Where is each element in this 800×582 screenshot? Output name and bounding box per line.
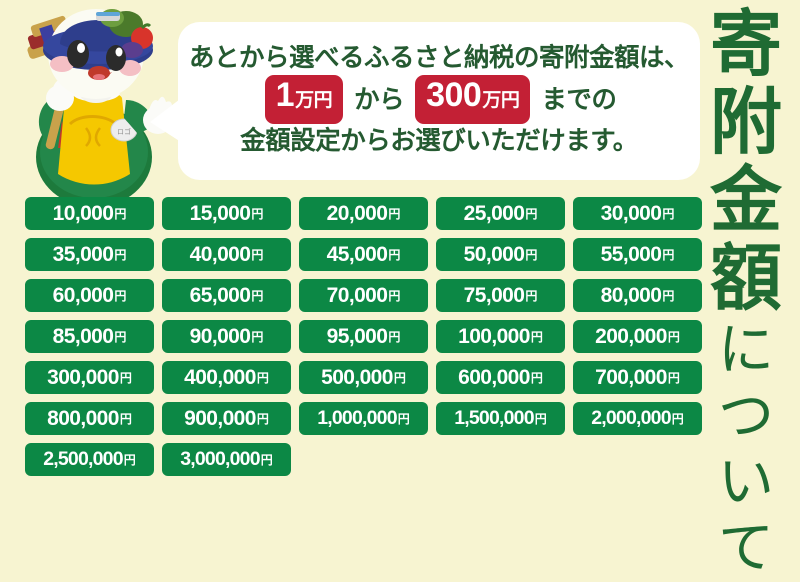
amount-currency-suffix: 円 xyxy=(531,368,543,389)
amount-value: 200,000 xyxy=(595,326,667,347)
amount-value: 400,000 xyxy=(184,367,256,388)
vtitle-char-5: つ xyxy=(718,384,774,450)
amount-value: 100,000 xyxy=(458,326,530,347)
amount-value: 15,000 xyxy=(190,203,251,224)
amount-currency-suffix: 円 xyxy=(114,204,126,225)
amount-value: 80,000 xyxy=(601,285,662,306)
amount-currency-suffix: 円 xyxy=(114,245,126,266)
amount-value: 600,000 xyxy=(458,367,530,388)
amount-button[interactable]: 1,000,000円 xyxy=(299,402,428,435)
amount-button[interactable]: 95,000円 xyxy=(299,320,428,353)
amount-currency-suffix: 円 xyxy=(662,245,674,266)
amount-currency-suffix: 円 xyxy=(394,368,406,389)
amount-value: 10,000 xyxy=(53,203,114,224)
amount-value: 75,000 xyxy=(464,285,525,306)
amount-value: 95,000 xyxy=(327,326,388,347)
amount-button[interactable]: 600,000円 xyxy=(436,361,565,394)
amount-value: 700,000 xyxy=(595,367,667,388)
svg-text:ロゴ: ロゴ xyxy=(117,127,131,136)
vtitle-char-1: 附 xyxy=(710,84,782,162)
amount-currency-suffix: 円 xyxy=(114,327,126,348)
amount-button[interactable]: 300,000円 xyxy=(25,361,154,394)
amount-value: 3,000,000 xyxy=(180,449,260,470)
amount-value: 20,000 xyxy=(327,203,388,224)
amount-currency-suffix: 円 xyxy=(525,245,537,266)
amount-value: 500,000 xyxy=(321,367,393,388)
amount-currency-suffix: 円 xyxy=(662,286,674,307)
amount-currency-suffix: 円 xyxy=(388,245,400,266)
amount-button[interactable]: 85,000円 xyxy=(25,320,154,353)
amount-button[interactable]: 90,000円 xyxy=(162,320,291,353)
amount-button[interactable]: 55,000円 xyxy=(573,238,702,271)
amount-button[interactable]: 35,000円 xyxy=(25,238,154,271)
amount-button[interactable]: 45,000円 xyxy=(299,238,428,271)
amount-button[interactable]: 200,000円 xyxy=(573,320,702,353)
amount-currency-suffix: 円 xyxy=(388,204,400,225)
amount-currency-suffix: 円 xyxy=(261,450,273,471)
amount-currency-suffix: 円 xyxy=(251,286,263,307)
bubble-line-1: あとから選べるふるさと納税の寄附金額は、 xyxy=(189,43,689,73)
amount-button[interactable]: 100,000円 xyxy=(436,320,565,353)
amount-currency-suffix: 円 xyxy=(124,450,136,471)
bubble-line-3: 金額設定からお選びいただけます。 xyxy=(240,125,637,157)
amount-button[interactable]: 800,000円 xyxy=(25,402,154,435)
amount-currency-suffix: 円 xyxy=(120,409,132,430)
amount-button[interactable]: 10,000円 xyxy=(25,197,154,230)
min-amount-unit: 万円 xyxy=(295,82,332,120)
amount-currency-suffix: 円 xyxy=(388,327,400,348)
amount-value: 25,000 xyxy=(464,203,525,224)
amount-currency-suffix: 円 xyxy=(531,327,543,348)
amount-currency-suffix: 円 xyxy=(662,204,674,225)
amount-button[interactable]: 80,000円 xyxy=(573,279,702,312)
amount-button[interactable]: 400,000円 xyxy=(162,361,291,394)
amount-value: 900,000 xyxy=(184,408,256,429)
amount-button[interactable]: 900,000円 xyxy=(162,402,291,435)
promo-banner: ロゴ xyxy=(0,0,800,496)
amount-value: 65,000 xyxy=(190,285,251,306)
amount-currency-suffix: 円 xyxy=(257,409,269,430)
speech-bubble: あとから選べるふるさと納税の寄附金額は、 1万円 から 300万円 までの 金額… xyxy=(178,22,700,180)
amount-value: 55,000 xyxy=(601,244,662,265)
amount-button[interactable]: 3,000,000円 xyxy=(162,443,291,476)
amount-value: 2,500,000 xyxy=(43,449,123,470)
vertical-title: 寄 附 金 額 に つ い て xyxy=(702,6,790,490)
amount-currency-suffix: 円 xyxy=(251,204,263,225)
amount-currency-suffix: 円 xyxy=(257,368,269,389)
amount-currency-suffix: 円 xyxy=(668,368,680,389)
amount-currency-suffix: 円 xyxy=(251,245,263,266)
amount-currency-suffix: 円 xyxy=(388,286,400,307)
vertical-title-small: に つ い て xyxy=(718,318,774,582)
amount-button[interactable]: 60,000円 xyxy=(25,279,154,312)
amount-options-grid: 10,000円15,000円20,000円25,000円30,000円35,00… xyxy=(25,197,702,476)
amount-button[interactable]: 700,000円 xyxy=(573,361,702,394)
amount-value: 1,000,000 xyxy=(317,408,397,429)
amount-button[interactable]: 25,000円 xyxy=(436,197,565,230)
vtitle-char-4: に xyxy=(718,318,774,384)
bubble-line-2: 1万円 から 300万円 までの xyxy=(259,75,620,124)
amount-button[interactable]: 40,000円 xyxy=(162,238,291,271)
amount-value: 60,000 xyxy=(53,285,114,306)
amount-button[interactable]: 50,000円 xyxy=(436,238,565,271)
min-amount-badge: 1万円 xyxy=(265,75,343,124)
amount-button[interactable]: 15,000円 xyxy=(162,197,291,230)
amount-button[interactable]: 65,000円 xyxy=(162,279,291,312)
max-amount-badge: 300万円 xyxy=(415,75,530,124)
amount-button[interactable]: 30,000円 xyxy=(573,197,702,230)
amount-button[interactable]: 70,000円 xyxy=(299,279,428,312)
amount-currency-suffix: 円 xyxy=(672,409,684,430)
amount-currency-suffix: 円 xyxy=(398,409,410,430)
amount-value: 40,000 xyxy=(190,244,251,265)
amount-currency-suffix: 円 xyxy=(120,368,132,389)
amount-value: 800,000 xyxy=(47,408,119,429)
vertical-title-large: 寄 附 金 額 xyxy=(710,6,782,318)
amount-button[interactable]: 20,000円 xyxy=(299,197,428,230)
amount-button[interactable]: 2,000,000円 xyxy=(573,402,702,435)
amount-button[interactable]: 75,000円 xyxy=(436,279,565,312)
amount-value: 45,000 xyxy=(327,244,388,265)
min-amount-number: 1 xyxy=(276,76,294,114)
amount-currency-suffix: 円 xyxy=(525,286,537,307)
amount-button[interactable]: 1,500,000円 xyxy=(436,402,565,435)
vtitle-char-7: て xyxy=(718,516,774,582)
amount-value: 90,000 xyxy=(190,326,251,347)
amount-value: 70,000 xyxy=(327,285,388,306)
vtitle-char-3: 額 xyxy=(710,240,782,318)
amount-button[interactable]: 2,500,000円 xyxy=(25,443,154,476)
range-suffix: までの xyxy=(538,78,619,122)
vtitle-char-0: 寄 xyxy=(710,6,782,84)
amount-currency-suffix: 円 xyxy=(668,327,680,348)
amount-value: 50,000 xyxy=(464,244,525,265)
max-amount-number: 300 xyxy=(426,76,481,114)
vtitle-char-6: い xyxy=(718,450,774,516)
max-amount-unit: 万円 xyxy=(482,82,519,120)
amount-value: 85,000 xyxy=(53,326,114,347)
amount-value: 2,000,000 xyxy=(591,408,671,429)
amount-value: 1,500,000 xyxy=(454,408,534,429)
amount-value: 30,000 xyxy=(601,203,662,224)
vtitle-char-2: 金 xyxy=(710,162,782,240)
amount-currency-suffix: 円 xyxy=(535,409,547,430)
amount-currency-suffix: 円 xyxy=(114,286,126,307)
amount-value: 300,000 xyxy=(47,367,119,388)
amount-value: 35,000 xyxy=(53,244,114,265)
amount-currency-suffix: 円 xyxy=(251,327,263,348)
amount-currency-suffix: 円 xyxy=(525,204,537,225)
range-conjunction: から xyxy=(351,78,407,122)
amount-button[interactable]: 500,000円 xyxy=(299,361,428,394)
